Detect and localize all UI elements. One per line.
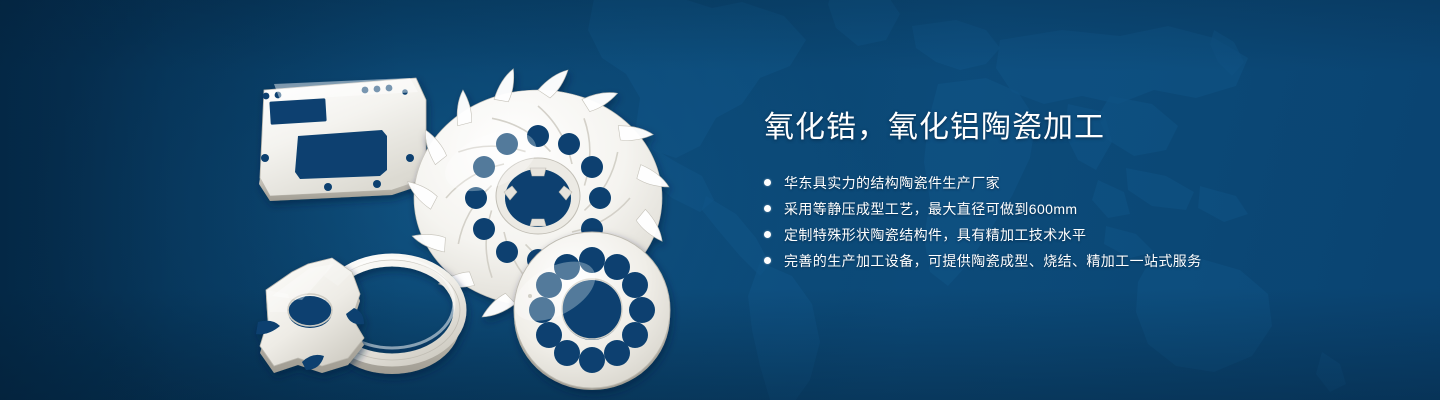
- bullet-dot-icon: [764, 205, 771, 212]
- bullet-dot-icon: [764, 179, 771, 186]
- list-item: 采用等静压成型工艺，最大直径可做到600mm: [764, 198, 1384, 219]
- ceramic-plate-part: [259, 78, 426, 201]
- ceramic-cross-part: [256, 258, 364, 373]
- feature-text: 定制特殊形状陶瓷结构件，具有精加工技术水平: [784, 225, 1086, 245]
- list-item: 完善的生产加工设备，可提供陶瓷成型、烧结、精加工一站式服务: [764, 250, 1384, 271]
- page-title: 氧化锆，氧化铝陶瓷加工: [764, 108, 1384, 148]
- feature-text: 华东具实力的结构陶瓷件生产厂家: [784, 173, 1000, 193]
- feature-text: 采用等静压成型工艺，最大直径可做到600mm: [784, 199, 1077, 219]
- ceramic-parts-photo: [240, 48, 710, 388]
- list-item: 华东具实力的结构陶瓷件生产厂家: [764, 172, 1384, 193]
- bullet-dot-icon: [764, 231, 771, 238]
- list-item: 定制特殊形状陶瓷结构件，具有精加工技术水平: [764, 224, 1384, 245]
- feature-list: 华东具实力的结构陶瓷件生产厂家 采用等静压成型工艺，最大直径可做到600mm 定…: [764, 172, 1384, 271]
- feature-text: 完善的生产加工设备，可提供陶瓷成型、烧结、精加工一站式服务: [784, 251, 1202, 271]
- ceramic-perforated-disc-part: [505, 232, 670, 390]
- hero-banner: 氧化锆，氧化铝陶瓷加工 华东具实力的结构陶瓷件生产厂家 采用等静压成型工艺，最大…: [0, 0, 1440, 400]
- ceramic-ring-part: [324, 258, 460, 374]
- banner-copy: 氧化锆，氧化铝陶瓷加工 华东具实力的结构陶瓷件生产厂家 采用等静压成型工艺，最大…: [764, 108, 1384, 276]
- bullet-dot-icon: [764, 257, 771, 264]
- ceramic-impeller-part: [408, 69, 669, 330]
